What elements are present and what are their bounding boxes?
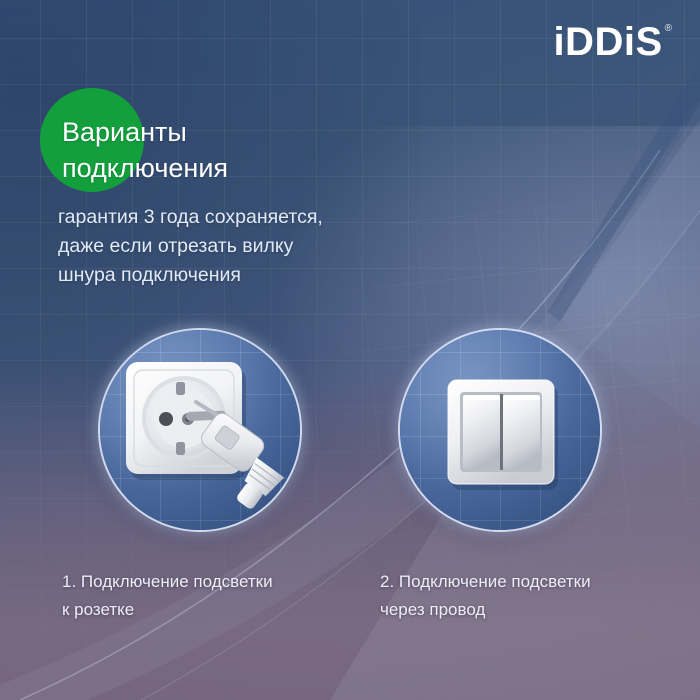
option-2-caption: 2. Подключение подсветки через провод <box>380 568 680 623</box>
option-1-image <box>100 330 300 530</box>
registered-trademark-icon: ® <box>665 24 672 34</box>
option-1-caption: 1. Подключение подсветки к розетке <box>62 568 362 623</box>
page-title: Варианты подключения <box>62 115 482 186</box>
brand-logo-text: iDDiS <box>553 22 662 62</box>
brand-logo: iDDiS ® <box>553 22 672 62</box>
intro-text: гарантия 3 года сохраняется, даже если о… <box>58 203 488 291</box>
option-2-image <box>400 330 600 530</box>
double-rocker-light-switch-icon <box>400 330 600 530</box>
wall-socket-with-plug-icon <box>100 330 300 530</box>
promo-banner: iDDiS ® Варианты подключения гарантия 3 … <box>0 0 700 700</box>
